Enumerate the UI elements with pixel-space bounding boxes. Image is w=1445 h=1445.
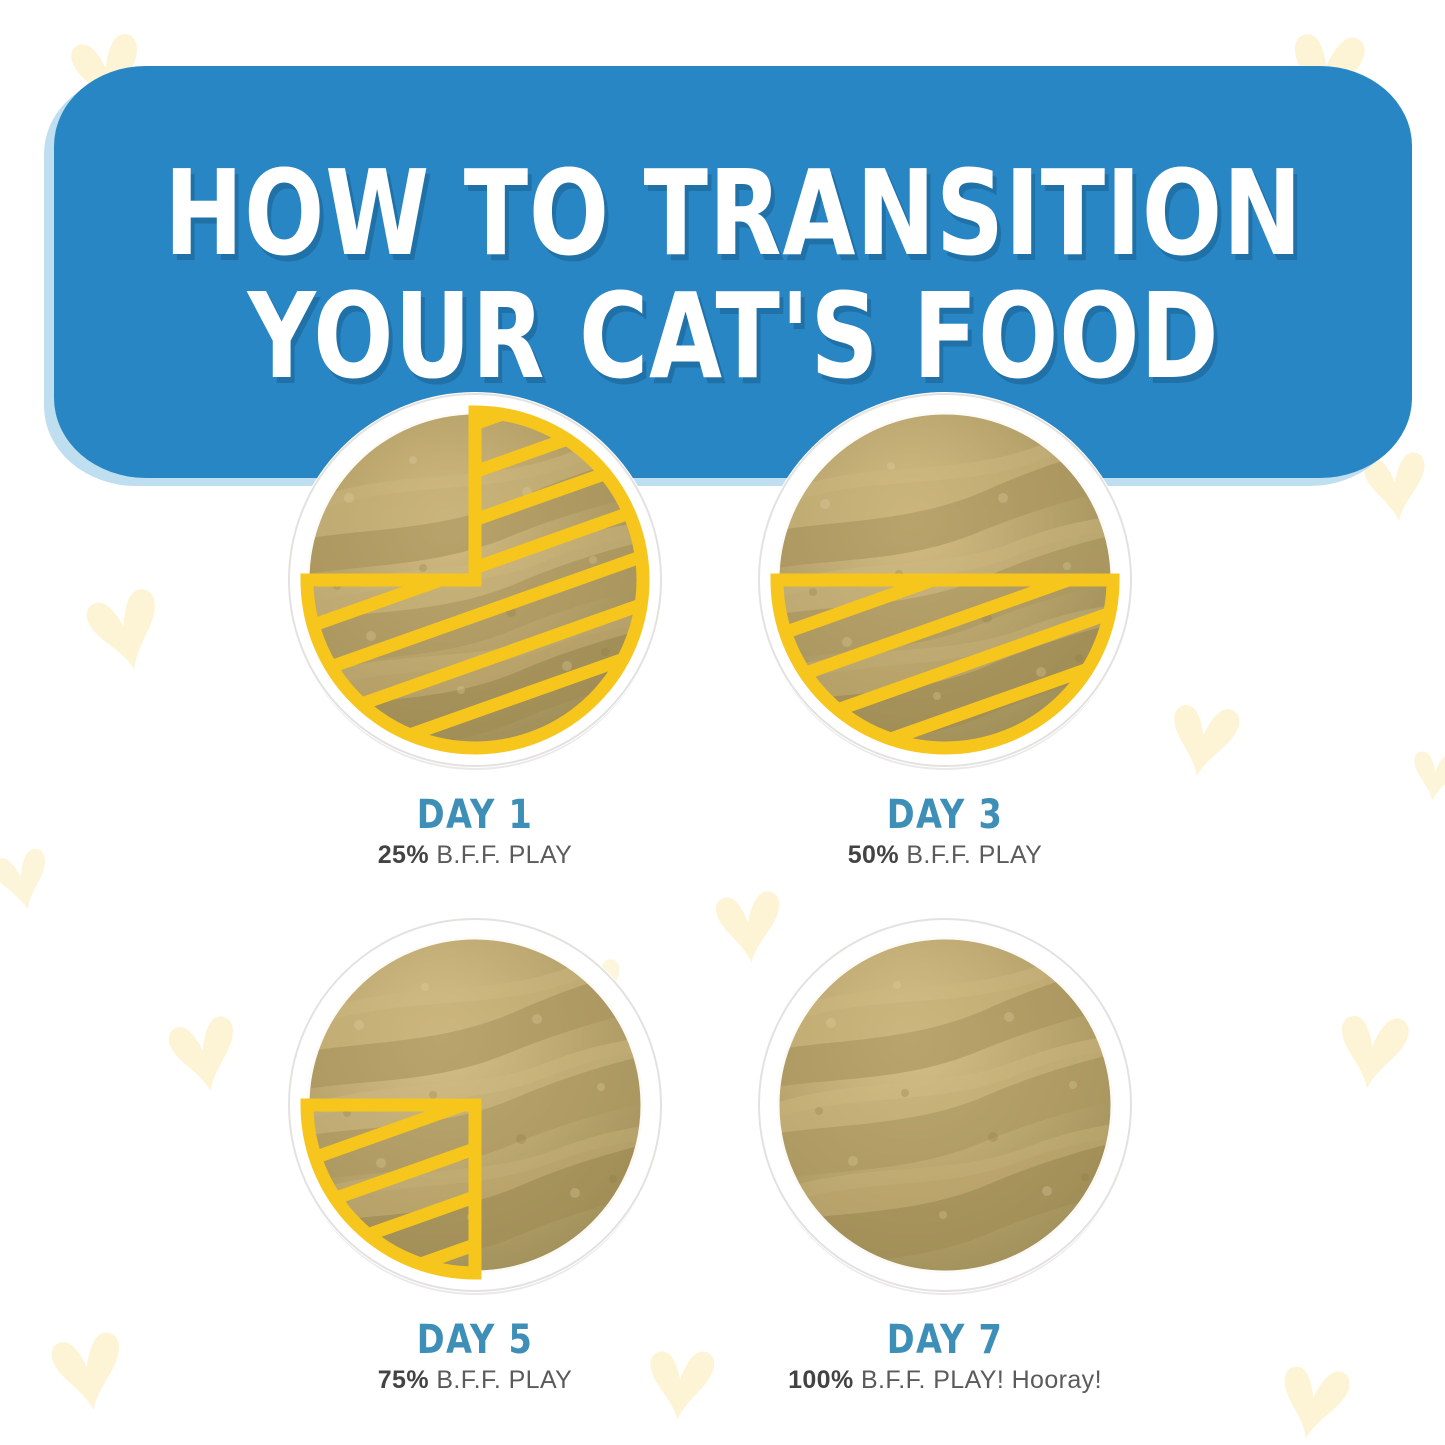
step-card-day-5: DAY 5 75% B.F.F. PLAY [240, 905, 710, 1395]
mix-ratio-label: 50% B.F.F. PLAY [710, 841, 1180, 870]
day-label: DAY 3 [748, 794, 1143, 836]
step-card-day-7: DAY 7 100% B.F.F. PLAY! Hooray! [710, 905, 1180, 1395]
mix-product-name: B.F.F. PLAY [429, 1366, 572, 1394]
bowl-day-5 [275, 905, 675, 1305]
mix-percent: 100% [788, 1366, 854, 1394]
bowl-illustration-day-3 [745, 380, 1145, 780]
bowl-illustration-day-5 [275, 905, 675, 1305]
infographic-canvas: HOW TO TRANSITION YOUR CAT'S FOOD [0, 0, 1445, 1445]
day-label: DAY 5 [278, 1319, 673, 1361]
step-card-day-3: DAY 3 50% B.F.F. PLAY [710, 380, 1180, 870]
mix-ratio-label: 100% B.F.F. PLAY! Hooray! [710, 1366, 1180, 1395]
mix-percent: 50% [848, 841, 899, 869]
bowl-illustration-day-7 [745, 905, 1145, 1305]
mix-product-name: B.F.F. PLAY [899, 841, 1042, 869]
transition-steps-grid: DAY 1 25% B.F.F. PLAY [0, 0, 1445, 1445]
mix-percent: 25% [378, 841, 429, 869]
step-card-day-1: DAY 1 25% B.F.F. PLAY [240, 380, 710, 870]
day-label: DAY 7 [748, 1319, 1143, 1361]
mix-ratio-label: 75% B.F.F. PLAY [240, 1366, 710, 1395]
mix-product-name: B.F.F. PLAY [429, 841, 572, 869]
bowl-illustration-day-1 [275, 380, 675, 780]
day-label: DAY 1 [278, 794, 673, 836]
mix-ratio-label: 25% B.F.F. PLAY [240, 841, 710, 870]
bowl-day-3 [745, 380, 1145, 780]
mix-percent: 75% [378, 1366, 429, 1394]
mix-product-name: B.F.F. PLAY! Hooray! [854, 1366, 1102, 1394]
bowl-day-7 [745, 905, 1145, 1305]
bowl-day-1 [275, 380, 675, 780]
